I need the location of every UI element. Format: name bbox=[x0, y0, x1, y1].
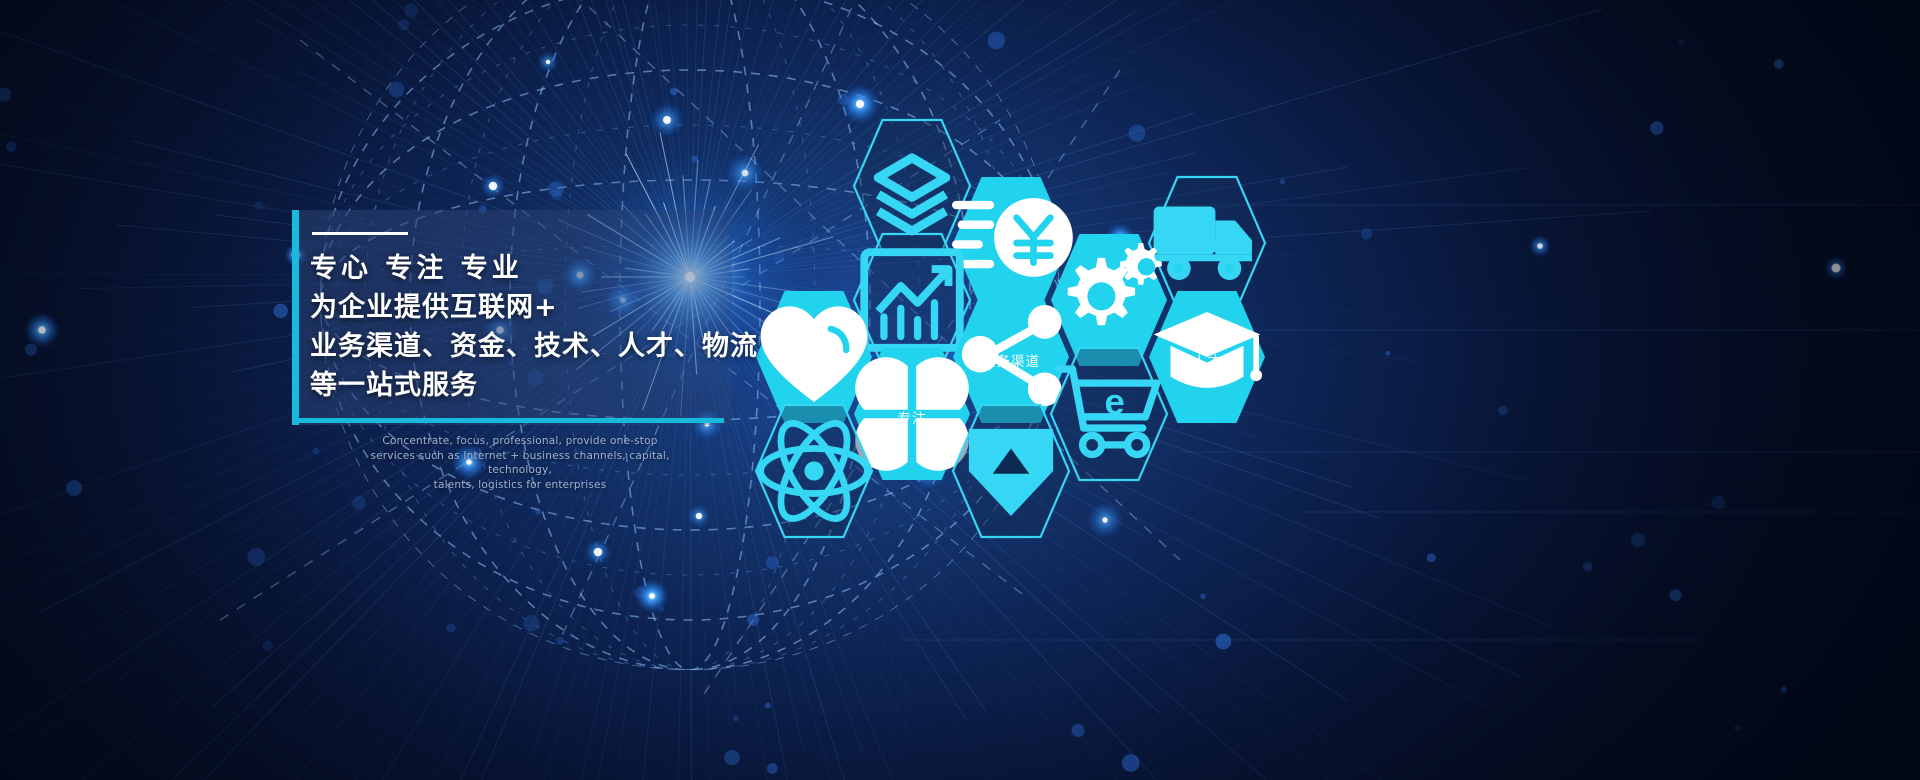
subtitle-line-2: services such as Internet + business cha… bbox=[345, 449, 695, 478]
svg-text:e: e bbox=[1104, 381, 1124, 422]
hexagon-atom[interactable] bbox=[755, 403, 873, 539]
headline-rule bbox=[312, 232, 408, 235]
headline-line-2: 为企业提供互联网+ bbox=[306, 288, 776, 327]
subtitle-line-3: talents, logistics for enterprises bbox=[345, 478, 695, 493]
headline-line-4: 等一站式服务 bbox=[306, 366, 776, 405]
hexagon-cluster: 资金 物流 技术 人才 专心 bbox=[0, 0, 1920, 780]
hero-banner: 资金 物流 技术 人才 专心 bbox=[0, 0, 1920, 780]
hexagon-pro[interactable]: 专业 bbox=[952, 403, 1070, 539]
panel-underline bbox=[292, 418, 724, 423]
subtitle-line-1: Concentrate, focus, professional, provid… bbox=[345, 434, 695, 449]
headline-block: 专心 专注 专业 为企业提供互联网+ 业务渠道、资金、技术、人才、物流 等一站式… bbox=[306, 214, 776, 405]
headline-line-3: 业务渠道、资金、技术、人才、物流 bbox=[306, 327, 776, 366]
subtitle-block: Concentrate, focus, professional, provid… bbox=[345, 434, 695, 492]
headline-line-1: 专心 专注 专业 bbox=[306, 249, 776, 288]
